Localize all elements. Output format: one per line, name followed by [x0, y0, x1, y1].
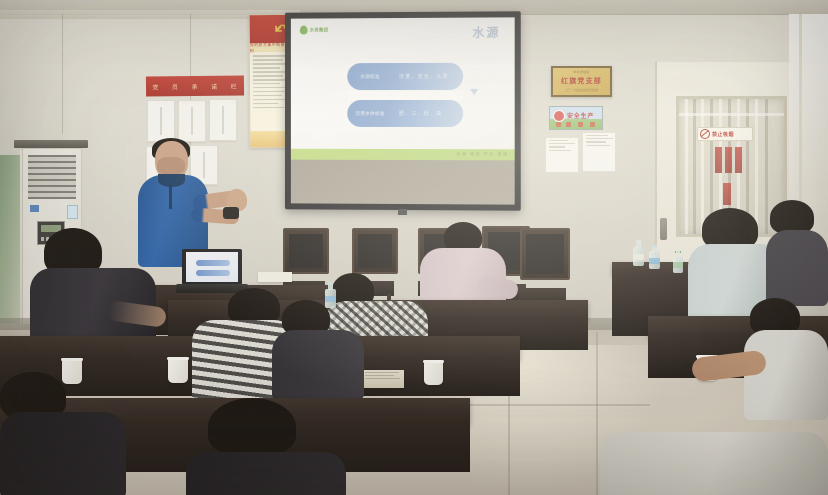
no-smoking-icon	[700, 129, 710, 139]
plaque-sub-text: 二〇一八年度先进基层党组织	[553, 88, 610, 92]
slide-logo-text: 水务集团	[310, 27, 329, 32]
screen-inactive-area	[291, 160, 515, 205]
audience-member	[766, 200, 828, 304]
no-smoking-text: 禁止吸烟	[712, 131, 734, 138]
banner-char: 承	[191, 81, 198, 90]
person-torso	[186, 452, 346, 495]
open-notebook	[362, 370, 404, 388]
projector-screen: 水务集团 水源 水源标准 流量、安全、水质 饮用水体标准 肥、三、低、高 水源 …	[285, 11, 521, 210]
water-bottle[interactable]	[649, 245, 660, 269]
banner-characters: 党 员 承 诺 栏	[146, 75, 244, 96]
ac-vents-icon	[28, 155, 76, 199]
honor-plaque: 中共党组织 红旗党支部 二〇一八年度先进基层党组织	[551, 66, 612, 97]
person-torso	[0, 412, 126, 495]
slide-row-divider	[347, 91, 463, 100]
presenter-shirt-placket	[169, 183, 172, 209]
screen-surface: 水务集团 水源 水源标准 流量、安全、水质 饮用水体标准 肥、三、低、高 水源 …	[291, 17, 515, 204]
slide-row-2-text: 肥、三、低、高	[393, 110, 463, 117]
wall-paper	[178, 100, 206, 142]
audience-member	[744, 298, 828, 418]
water-bottle[interactable]	[633, 240, 644, 266]
presentation-slide: 水务集团 水源 水源标准 流量、安全、水质 饮用水体标准 肥、三、低、高 水源 …	[291, 17, 515, 160]
no-smoking-sign: 禁止吸烟	[697, 127, 753, 141]
slide-footer-text: 水源 地保 护与 管理	[456, 151, 508, 157]
audience-member	[272, 300, 364, 396]
wall-paper	[147, 100, 175, 142]
wall-seam	[62, 14, 63, 134]
person-hair	[208, 398, 296, 456]
person-torso	[744, 330, 828, 420]
paper-cup[interactable]	[168, 357, 188, 383]
laptop-screen	[186, 252, 238, 282]
ac-energy-label	[30, 205, 39, 212]
slide-logo: 水务集团	[300, 25, 328, 34]
presentation-room-photo: 党 员 承 诺 栏 党的民主集中制基本原则	[0, 0, 828, 495]
wall-document	[582, 132, 616, 172]
wall-banner: 党 员 承 诺 栏	[146, 75, 244, 96]
plaque-main-text: 红旗党支部	[553, 76, 610, 86]
water-bottle[interactable]	[673, 251, 683, 273]
slide-row-1-label: 水源标准	[347, 74, 393, 80]
slide-footer-band: 水源 地保 护与 管理	[291, 149, 515, 161]
slide-title: 水源	[472, 23, 500, 40]
presenter-face	[157, 157, 185, 175]
ac-sticker	[67, 205, 78, 219]
slide-row-1: 水源标准 流量、安全、水质	[347, 63, 463, 90]
audience-member	[0, 372, 126, 495]
signboard-text: 安全生产	[567, 111, 594, 120]
presenter-clicker[interactable]	[223, 207, 239, 219]
person-torso	[272, 330, 364, 400]
water-drop-icon	[300, 26, 308, 35]
wall-paper	[209, 99, 237, 141]
person-torso	[766, 230, 828, 306]
ac-top-shelf	[14, 140, 88, 148]
banner-char: 诺	[211, 81, 218, 90]
safety-signboard: 安全生产	[549, 106, 603, 130]
audience-member	[30, 228, 156, 340]
screen-mount	[398, 209, 407, 215]
laptop-lid	[182, 249, 242, 285]
door-handle[interactable]	[660, 218, 667, 240]
audience-member	[186, 398, 346, 495]
paper-cup[interactable]	[424, 360, 443, 385]
triangle-down-icon	[470, 89, 478, 95]
slide-row-2: 饮用水体标准 肥、三、低、高	[347, 100, 463, 127]
slide-row-1-text: 流量、安全、水质	[393, 73, 463, 80]
banner-char: 栏	[231, 81, 238, 90]
person-torso	[600, 432, 828, 495]
banner-char: 员	[172, 82, 179, 91]
safety-badge-icon	[553, 110, 565, 122]
slide-row-2-label: 饮用水体标准	[347, 111, 393, 117]
person-hair	[770, 200, 814, 234]
audience-member	[600, 420, 828, 495]
wall-document	[545, 137, 579, 173]
banner-char: 党	[152, 82, 159, 91]
plaque-top-text: 中共党组织	[553, 70, 610, 74]
desk-papers	[258, 272, 292, 282]
